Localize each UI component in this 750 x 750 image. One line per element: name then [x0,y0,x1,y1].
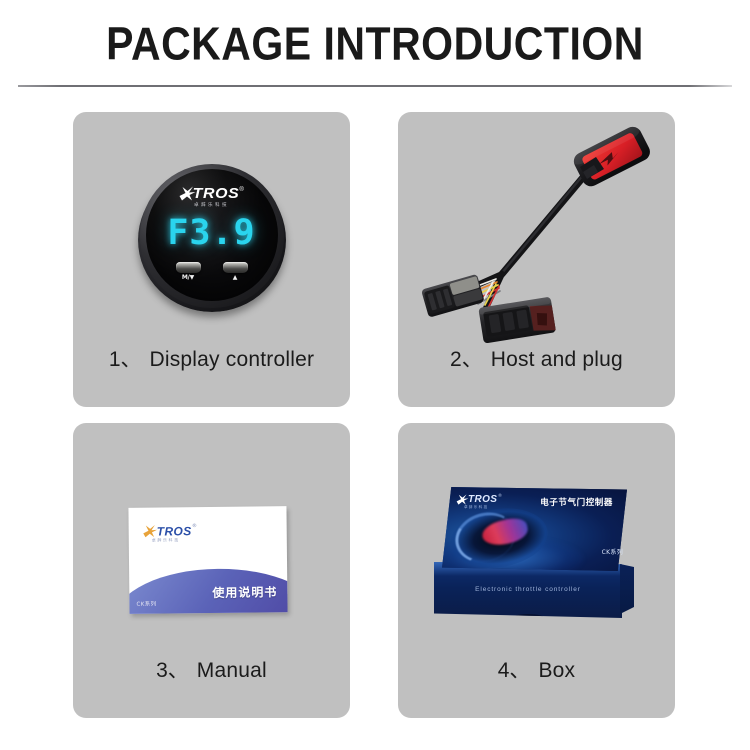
host-and-plug-caption-label: Host and plug [491,348,623,371]
host-and-plug-caption: 2、Host and plug [398,343,675,373]
manual-booklet: TROS ® 卓辞乐科技 使用说明书 CK系列 [128,506,287,614]
manual-caption: 3、Manual [73,654,350,684]
up-button[interactable]: ▲ [223,262,248,281]
manual-series-label: CK系列 [136,600,156,608]
dial-brand-logo: TROS ® 卓辞乐科技 [146,186,278,208]
display-controller-caption-number: 1、 [109,348,142,371]
dial-brand-sub: 卓辞乐科技 [194,202,229,208]
display-controller-caption-label: Display controller [150,348,315,371]
box-caption: 4、Box [398,654,675,684]
box-brand-word: TROS [468,495,497,505]
led-readout: F3.9 [146,213,278,253]
box-brand-logo: TROS ® [456,494,502,505]
package-item-display-controller[interactable]: TROS ® 卓辞乐科技 F3.9 M/▼ ▲ [73,112,350,407]
box-top-panel: TROS ® 卓辞乐科技 电子节气门控制器 [442,487,627,571]
manual-caption-number: 3、 [156,659,189,682]
manual-brand-word: TROS [157,525,192,537]
box-title-en: Electronic throttle controller [434,586,622,593]
box-side-panel [620,564,634,614]
package-items-grid: TROS ® 卓辞乐科技 F3.9 M/▼ ▲ [73,112,675,718]
host-and-plug-illustration [398,112,675,344]
dial-brand-word: TROS [193,186,240,201]
mode-down-button-label: M/▼ [182,275,194,281]
package-item-manual[interactable]: TROS ® 卓辞乐科技 使用说明书 CK系列 3、Manual [73,423,350,718]
host-and-plug-image [398,112,675,344]
mode-down-button[interactable]: M/▼ [176,262,201,281]
page-header: PACKAGE INTRODUCTION [0,0,750,88]
up-button-label: ▲ [233,275,237,281]
host-and-plug-caption-number: 2、 [450,348,483,371]
box-image: Electronic throttle controller CK系列 TROS [398,423,675,655]
box-series-label: CK系列 [602,547,623,556]
package-item-host-and-plug[interactable]: 2、Host and plug [398,112,675,407]
display-controller-caption: 1、Display controller [73,343,350,373]
up-button-cap [223,262,248,273]
box-brand-sub: 卓辞乐科技 [464,505,488,510]
manual-brand-reg: ® [193,524,197,529]
mode-down-button-cap [176,262,201,273]
manual-brand-sub: 卓辞乐科技 [152,537,180,543]
throttle-controller-dial: TROS ® 卓辞乐科技 F3.9 M/▼ ▲ [138,164,286,314]
box-brand-reg: ® [498,494,501,499]
package-item-box[interactable]: Electronic throttle controller CK系列 TROS [398,423,675,718]
dial-button-group: M/▼ ▲ [146,262,278,281]
dial-face: TROS ® 卓辞乐科技 F3.9 M/▼ ▲ [146,169,278,301]
box-caption-number: 4、 [498,659,531,682]
box-front-notch [511,614,545,618]
manual-image: TROS ® 卓辞乐科技 使用说明书 CK系列 [73,423,350,655]
dial-brand-reg: ® [239,187,243,193]
box-title-cn: 电子节气门控制器 [540,496,613,508]
xtros-star-icon [143,525,158,538]
manual-title: 使用说明书 [212,583,277,601]
retail-box: Electronic throttle controller CK系列 TROS [434,487,639,622]
manual-brand-logo: TROS ® [143,524,197,538]
display-controller-image: TROS ® 卓辞乐科技 F3.9 M/▼ ▲ [73,112,350,344]
manual-caption-label: Manual [197,659,267,682]
page-title: PACKAGE INTRODUCTION [106,18,644,71]
box-caption-label: Box [538,659,575,682]
header-divider [18,85,732,87]
